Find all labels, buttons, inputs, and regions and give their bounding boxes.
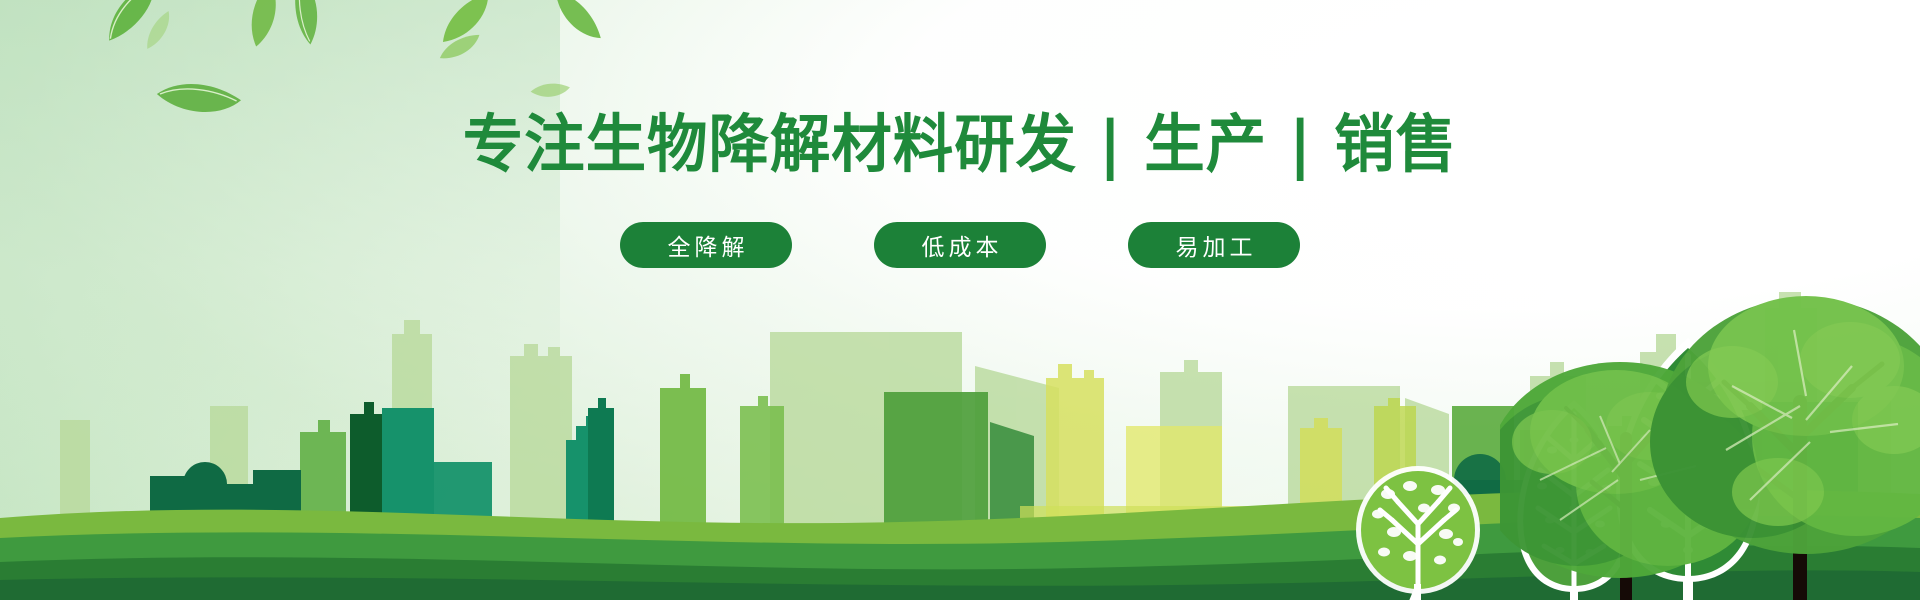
maple-canopy-right <box>1650 296 1920 554</box>
feature-pill-group: 全降解 低成本 易加工 <box>0 222 1920 268</box>
pill-di-cheng-ben[interactable]: 低成本 <box>874 222 1046 268</box>
pill-yi-jia-gong[interactable]: 易加工 <box>1128 222 1300 268</box>
hero-banner: 专注生物降解材料研发 | 生产 | 销售 全降解 低成本 易加工 <box>0 0 1920 600</box>
headline-block: 专注生物降解材料研发 | 生产 | 销售 <box>0 112 1920 178</box>
page-title: 专注生物降解材料研发 | 生产 | 销售 <box>463 112 1457 178</box>
pill-quan-jiang-jie[interactable]: 全降解 <box>620 222 792 268</box>
